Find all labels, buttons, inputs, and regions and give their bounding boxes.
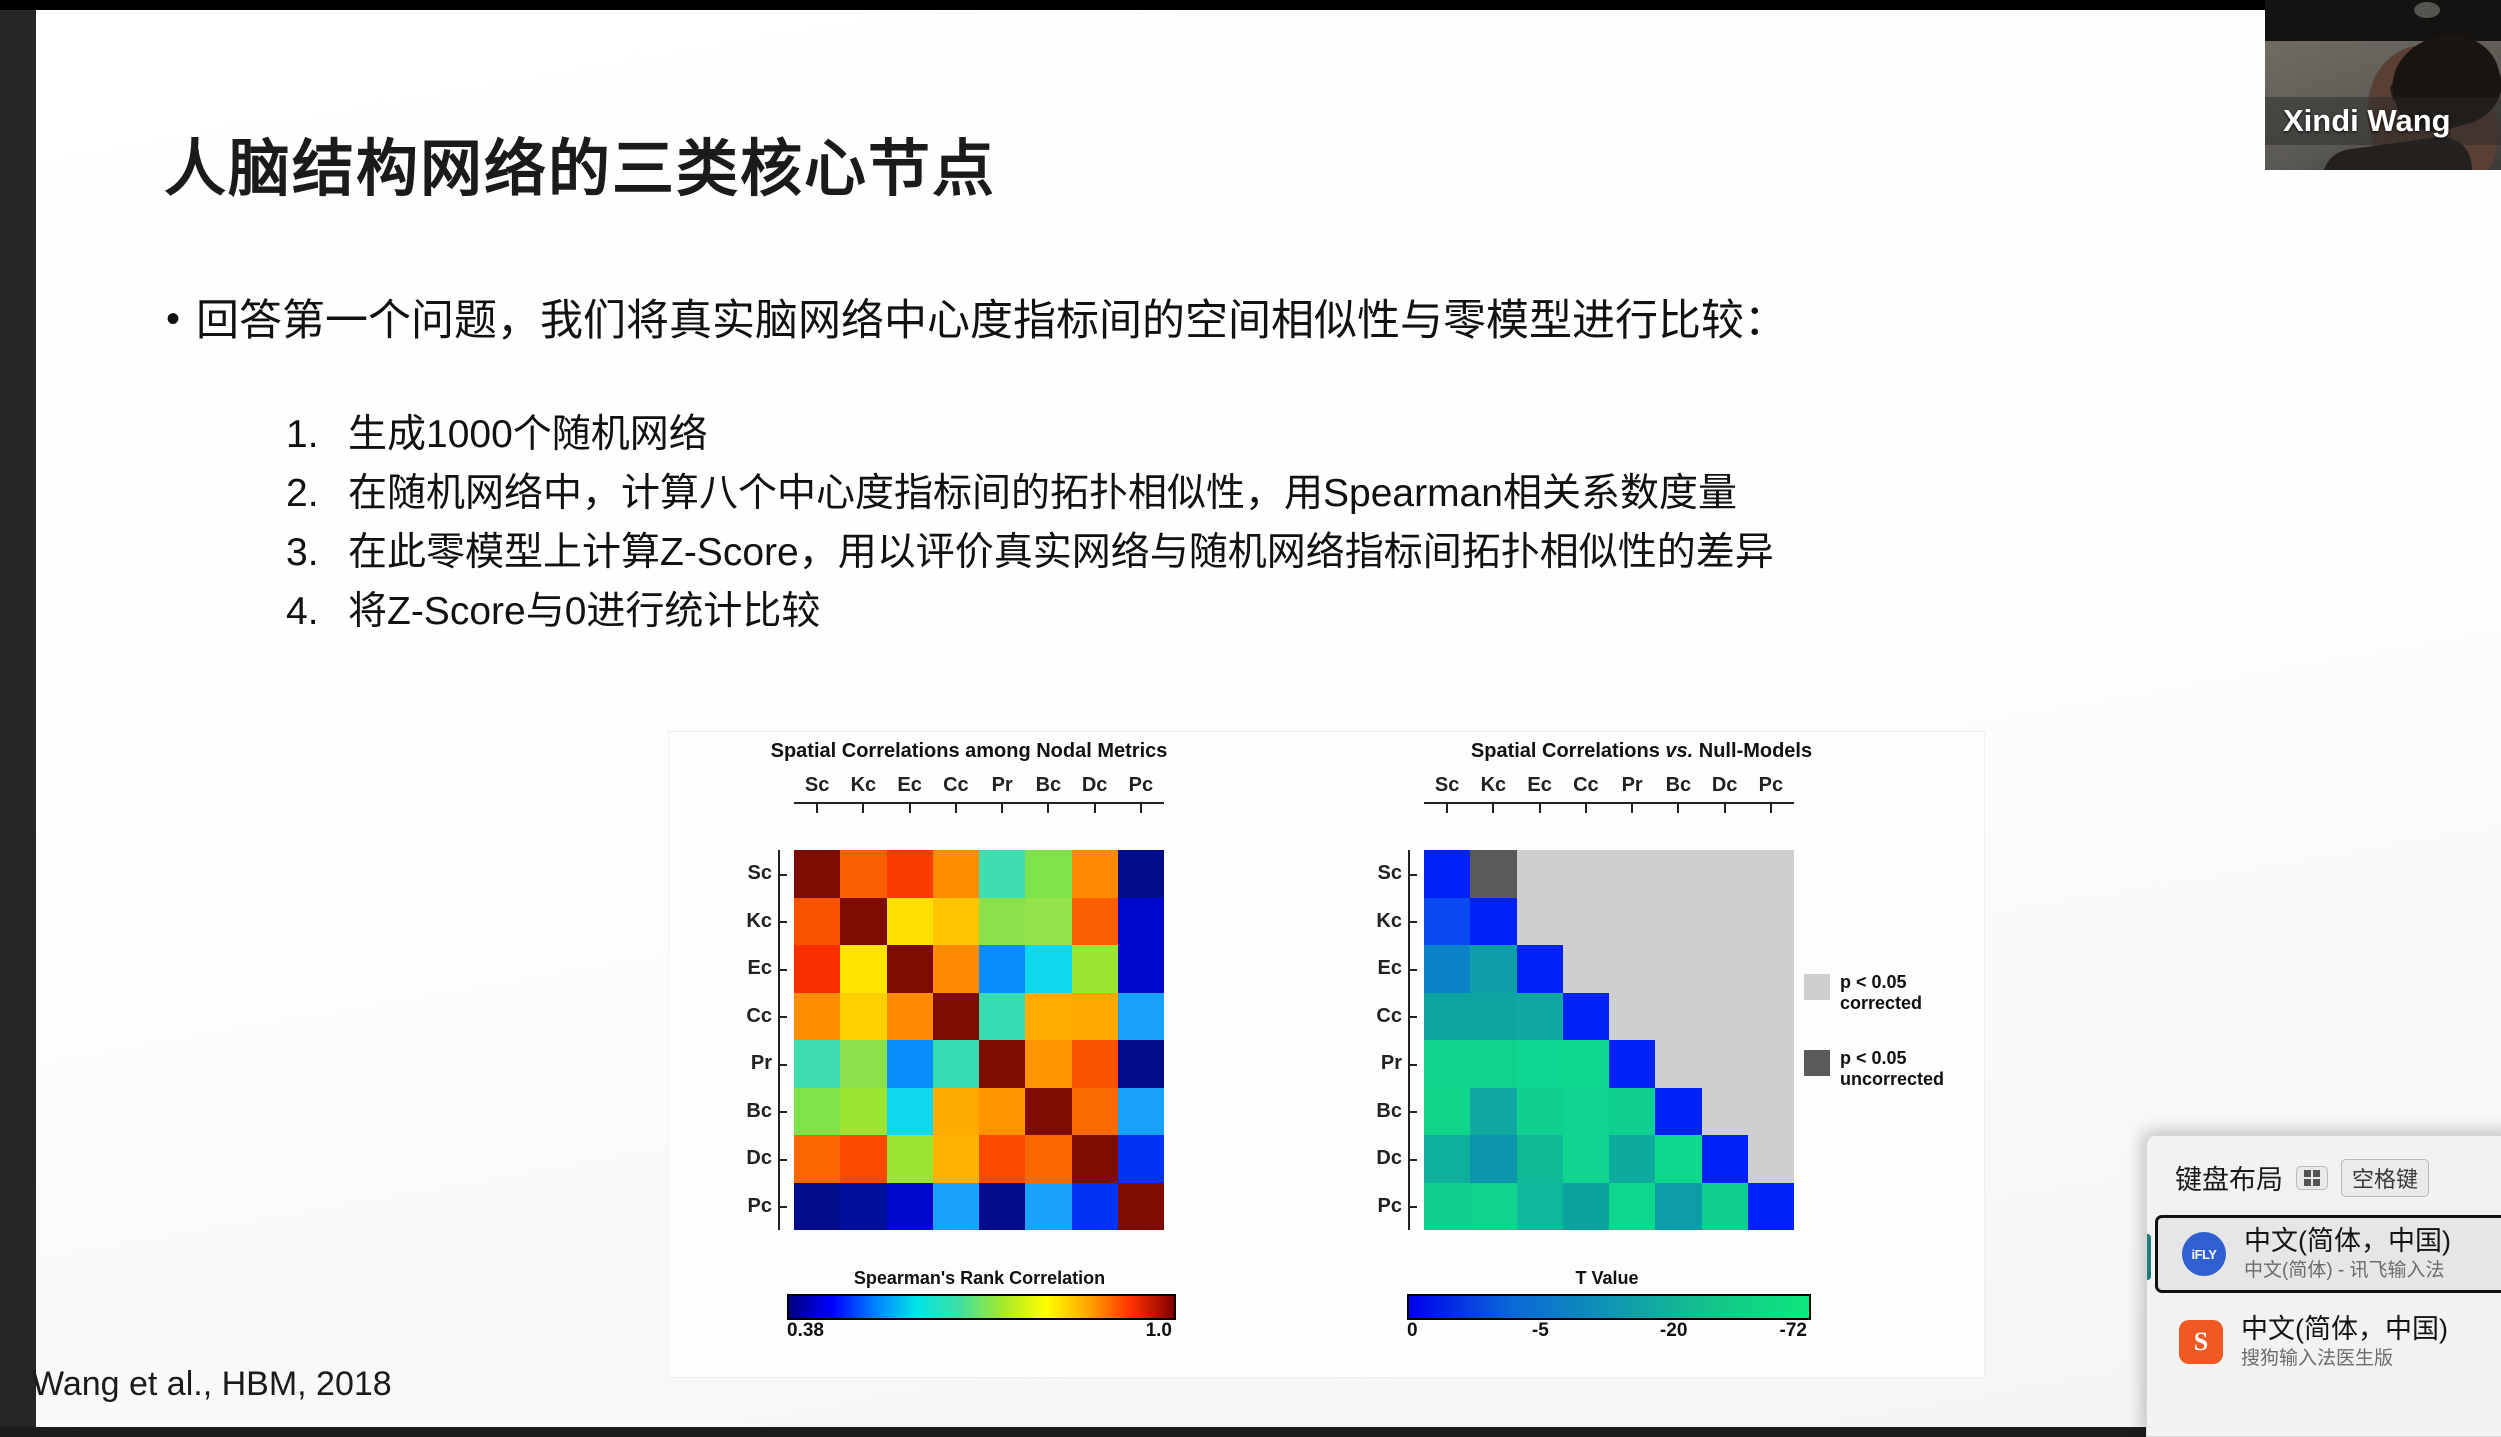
heatmap-right-x-ticks [1424, 804, 1794, 813]
column-header-bc: Bc [1025, 774, 1071, 797]
heatmap-cell-pr-dc [1702, 1040, 1748, 1088]
heatmap-cell-cc-kc [1470, 993, 1516, 1041]
heatmap-cell-kc-dc [1072, 898, 1118, 946]
heatmap-cell-pr-ec [887, 1040, 933, 1088]
windows-key-icon [2296, 1166, 2328, 1190]
participant-name-label: Xindi Wang [2283, 103, 2451, 139]
heatmap-cell-dc-bc [1025, 1135, 1071, 1183]
heatmap-cell-pc-bc [1025, 1183, 1071, 1231]
list-item: 2. 在随机网络中，计算八个中心度指标间的拓扑相似性，用Spearman相关系数… [286, 469, 1774, 519]
row-label-kc: Kc [724, 898, 772, 946]
heatmap-cell-sc-kc [840, 850, 886, 898]
heatmap-cell-ec-sc [794, 945, 840, 993]
heatmap-right-title: Spatial Correlations vs. Null-Models [1299, 740, 1984, 763]
row-label-sc: Sc [724, 850, 772, 898]
heatmap-cell-dc-ec [1517, 1135, 1563, 1183]
list-item: 1. 生成1000个随机网络 [286, 410, 1774, 460]
list-item-text: 生成1000个随机网络 [348, 410, 708, 460]
heatmap-right-colorbar [1407, 1294, 1811, 1320]
row-tick [778, 874, 787, 876]
heatmap-cell-cc-pr [1609, 993, 1655, 1041]
heatmap-cell-pc-bc [1655, 1183, 1701, 1231]
heatmap-right-row-labels: ScKcEcCcPrBcDcPc [1354, 850, 1402, 1230]
colorbar-tick-label: -20 [1660, 1320, 1687, 1342]
heatmap-cell-pr-cc [933, 1040, 979, 1088]
colorbar-min-label: 0.38 [787, 1320, 824, 1342]
row-label-kc: Kc [1354, 898, 1402, 946]
list-item-index: 1. [286, 410, 348, 460]
list-item-index: 2. [286, 469, 348, 519]
column-header-kc: Kc [840, 774, 886, 797]
heatmap-cell-sc-pr [1609, 850, 1655, 898]
heatmap-cell-ec-kc [1470, 945, 1516, 993]
heatmap-cell-sc-pc [1118, 850, 1164, 898]
heatmap-cell-kc-kc [1470, 898, 1516, 946]
heatmap-cell-bc-kc [840, 1088, 886, 1136]
heatmap-cell-pr-kc [840, 1040, 886, 1088]
row-tick [1408, 1016, 1417, 1018]
heatmap-cell-pc-kc [840, 1183, 886, 1231]
list-item: 3. 在此零模型上计算Z-Score，用以评价真实网络与随机网络指标间拓扑相似性… [286, 528, 1774, 578]
list-item: 4. 将Z-Score与0进行统计比较 [286, 587, 1774, 637]
heatmap-cell-bc-ec [1517, 1088, 1563, 1136]
ime-language-switcher-popup[interactable]: 键盘布局 空格键 iFLY 中文(简体，中国) 中文(简体) - 讯飞输入法 S… [2146, 1135, 2501, 1437]
heatmap-cell-sc-ec [887, 850, 933, 898]
bullet-marker-icon: • [166, 295, 196, 343]
heatmap-cell-cc-pr [979, 993, 1025, 1041]
list-item-text: 在随机网络中，计算八个中心度指标间的拓扑相似性，用Spearman相关系数度量 [348, 469, 1737, 519]
heatmap-left-y-axis [778, 850, 780, 1230]
heatmap-cell-kc-sc [1424, 898, 1470, 946]
screen-share-frame: 人脑结构网络的三类核心节点 • 回答第一个问题，我们将真实脑网络中心度指标间的空… [0, 0, 2501, 1427]
main-bullet: • 回答第一个问题，我们将真实脑网络中心度指标间的空间相似性与零模型进行比较： [166, 295, 1787, 347]
heatmap-cell-cc-cc [1563, 993, 1609, 1041]
heatmap-cell-ec-kc [840, 945, 886, 993]
heatmap-cell-pr-cc [1563, 1040, 1609, 1088]
ime-header-label: 键盘布局 [2175, 1158, 2283, 1197]
heatmap-cell-cc-pc [1118, 993, 1164, 1041]
heatmap-cell-bc-dc [1072, 1088, 1118, 1136]
heatmap-cell-pc-pc [1748, 1183, 1794, 1231]
ime-option-sogou[interactable]: S 中文(简体，中国) 搜狗输入法医生版 [2155, 1303, 2501, 1381]
heatmap-cell-kc-ec [1517, 898, 1563, 946]
column-header-pr: Pr [979, 774, 1025, 797]
ime-option-ifly[interactable]: iFLY 中文(简体，中国) 中文(简体) - 讯飞输入法 [2155, 1215, 2501, 1293]
heatmap-cell-pr-bc [1025, 1040, 1071, 1088]
row-label-cc: Cc [724, 993, 772, 1041]
citation-text: Wang et al., HBM, 2018 [32, 1365, 392, 1404]
heatmap-cell-ec-pr [979, 945, 1025, 993]
heatmap-cell-kc-pr [1609, 898, 1655, 946]
legend-line2: corrected [1840, 993, 1922, 1014]
column-header-pr: Pr [1609, 774, 1655, 797]
heatmap-cell-ec-cc [933, 945, 979, 993]
heatmap-left-row-labels: ScKcEcCcPrBcDcPc [724, 850, 772, 1230]
heatmap-right-cells [1424, 850, 1794, 1230]
row-tick [1408, 921, 1417, 923]
heatmap-cell-cc-sc [794, 993, 840, 1041]
heatmap-cell-pc-cc [933, 1183, 979, 1231]
legend-text-corrected: p < 0.05 corrected [1840, 972, 1922, 1014]
ime-option-text: 中文(简体，中国) 中文(简体) - 讯飞输入法 [2244, 1226, 2451, 1282]
heatmap-cell-cc-cc [933, 993, 979, 1041]
heatmap-panel-nodal-metrics: Spatial Correlations among Nodal Metrics… [669, 732, 1269, 1377]
heatmap-cell-kc-dc [1702, 898, 1748, 946]
row-tick [1408, 1111, 1417, 1113]
row-tick [778, 1111, 787, 1113]
heatmap-cell-bc-pc [1748, 1088, 1794, 1136]
heatmap-cell-ec-sc [1424, 945, 1470, 993]
heatmap-cell-dc-dc [1072, 1135, 1118, 1183]
ime-option-title: 中文(简体，中国) [2241, 1314, 2448, 1345]
heatmap-cell-dc-pr [979, 1135, 1025, 1183]
page-title: 人脑结构网络的三类核心节点 [164, 118, 996, 208]
row-label-pc: Pc [724, 1183, 772, 1231]
heatmap-cell-ec-dc [1702, 945, 1748, 993]
heatmap-cell-dc-pc [1118, 1135, 1164, 1183]
column-header-cc: Cc [1563, 774, 1609, 797]
heatmap-cell-dc-pc [1748, 1135, 1794, 1183]
heatmap-cell-dc-sc [794, 1135, 840, 1183]
webcam-background-dark [2265, 0, 2501, 41]
heatmap-right-legend: p < 0.05 corrected p < 0.05 uncorrected [1804, 972, 1944, 1124]
heatmap-cell-pc-dc [1702, 1183, 1748, 1231]
heatmap-cell-pr-sc [1424, 1040, 1470, 1088]
heatmap-cell-cc-sc [1424, 993, 1470, 1041]
heatmap-cell-bc-dc [1702, 1088, 1748, 1136]
heatmap-cell-pc-ec [1517, 1183, 1563, 1231]
heatmap-cell-dc-kc [1470, 1135, 1516, 1183]
column-header-ec: Ec [1517, 774, 1563, 797]
heatmap-cell-pc-ec [887, 1183, 933, 1231]
heatmap-cell-sc-pc [1748, 850, 1794, 898]
heatmap-left-colorbar-ticks: 0.38 1.0 [787, 1320, 1172, 1344]
row-label-dc: Dc [1354, 1135, 1402, 1183]
heatmap-cell-ec-cc [1563, 945, 1609, 993]
heatmap-cell-pc-pc [1118, 1183, 1164, 1231]
heatmap-cell-pr-pc [1118, 1040, 1164, 1088]
heatmap-cell-cc-bc [1025, 993, 1071, 1041]
heatmap-cell-bc-cc [933, 1088, 979, 1136]
heatmap-cell-kc-bc [1655, 898, 1701, 946]
heatmap-right-colorbar-ticks: 0-5-20-72 [1407, 1320, 1807, 1344]
row-tick [1408, 874, 1417, 876]
numbered-step-list: 1. 生成1000个随机网络 2. 在随机网络中，计算八个中心度指标间的拓扑相似… [286, 410, 1774, 646]
heatmap-cell-cc-kc [840, 993, 886, 1041]
row-label-dc: Dc [724, 1135, 772, 1183]
legend-line2: uncorrected [1840, 1069, 1944, 1090]
heatmap-cell-sc-cc [1563, 850, 1609, 898]
webcam-ceiling-light [2414, 2, 2440, 18]
row-tick [778, 1206, 787, 1208]
left-dark-border [0, 0, 36, 1427]
heatmap-cell-kc-ec [887, 898, 933, 946]
ime-selection-indicator [2146, 1234, 2151, 1280]
heatmap-cell-sc-bc [1655, 850, 1701, 898]
heatmap-cell-dc-sc [1424, 1135, 1470, 1183]
heatmap-cell-pr-pr [1609, 1040, 1655, 1088]
ime-header: 键盘布局 空格键 [2147, 1136, 2501, 1197]
heatmap-cell-sc-cc [933, 850, 979, 898]
heatmap-cell-pr-kc [1470, 1040, 1516, 1088]
heatmap-cell-bc-sc [1424, 1088, 1470, 1136]
row-label-pr: Pr [1354, 1040, 1402, 1088]
row-tick [1408, 1206, 1417, 1208]
row-tick [778, 921, 787, 923]
ime-option-subtitle: 中文(简体) - 讯飞输入法 [2244, 1260, 2451, 1282]
heatmap-cell-sc-sc [794, 850, 840, 898]
heatmap-left-colorbar-label: Spearman's Rank Correlation [787, 1268, 1172, 1289]
heatmap-cell-ec-dc [1072, 945, 1118, 993]
column-header-bc: Bc [1655, 774, 1701, 797]
top-black-bar [0, 0, 2501, 10]
heatmap-cell-pc-pr [1609, 1183, 1655, 1231]
heatmap-cell-sc-ec [1517, 850, 1563, 898]
heatmap-cell-sc-dc [1702, 850, 1748, 898]
row-tick [778, 1064, 787, 1066]
heatmap-right-title-part1: Spatial Correlations [1471, 740, 1666, 762]
heatmap-cell-ec-pc [1748, 945, 1794, 993]
heatmap-cell-bc-pr [1609, 1088, 1655, 1136]
legend-swatch-corrected [1804, 974, 1830, 1000]
column-header-ec: Ec [887, 774, 933, 797]
column-header-sc: Sc [794, 774, 840, 797]
heatmap-cell-ec-pr [1609, 945, 1655, 993]
heatmap-panel-null-models: Spatial Correlations vs. Null-Models ScK… [1299, 732, 1984, 1377]
colorbar-tick-label: -5 [1532, 1320, 1549, 1342]
row-tick [778, 1159, 787, 1161]
column-header-dc: Dc [1702, 774, 1748, 797]
heatmap-right-colorbar-label: T Value [1407, 1268, 1807, 1289]
list-item-text: 将Z-Score与0进行统计比较 [348, 587, 820, 637]
legend-line1: p < 0.05 [1840, 1048, 1944, 1069]
row-label-bc: Bc [724, 1088, 772, 1136]
space-key-badge: 空格键 [2341, 1159, 2429, 1197]
row-tick [1408, 969, 1417, 971]
column-header-pc: Pc [1748, 774, 1794, 797]
row-label-cc: Cc [1354, 993, 1402, 1041]
row-label-ec: Ec [724, 945, 772, 993]
heatmap-cell-pr-bc [1655, 1040, 1701, 1088]
row-tick [778, 969, 787, 971]
heatmap-cell-pr-pc [1748, 1040, 1794, 1088]
heatmap-cell-ec-pc [1118, 945, 1164, 993]
heatmap-cell-pc-sc [1424, 1183, 1470, 1231]
heatmap-cell-sc-kc [1470, 850, 1516, 898]
column-header-cc: Cc [933, 774, 979, 797]
legend-swatch-uncorrected [1804, 1050, 1830, 1076]
heatmap-left-colorbar [787, 1294, 1176, 1320]
heatmap-right-column-headers: ScKcEcCcPrBcDcPc [1424, 774, 1794, 797]
sogou-icon: S [2179, 1320, 2223, 1364]
column-header-dc: Dc [1072, 774, 1118, 797]
heatmap-right-title-part2: Null-Models [1693, 740, 1812, 762]
legend-item-uncorrected: p < 0.05 uncorrected [1804, 1048, 1944, 1090]
heatmap-cell-pr-dc [1072, 1040, 1118, 1088]
heatmap-cell-cc-pc [1748, 993, 1794, 1041]
row-tick [778, 1016, 787, 1018]
heatmap-cell-pc-kc [1470, 1183, 1516, 1231]
row-tick [1408, 1159, 1417, 1161]
webcam-name-bar: Xindi Wang [2265, 97, 2501, 145]
heatmap-left-cells [794, 850, 1164, 1230]
main-bullet-text: 回答第一个问题，我们将真实脑网络中心度指标间的空间相似性与零模型进行比较： [196, 295, 1787, 347]
colorbar-tick-label: 0 [1407, 1320, 1418, 1342]
presentation-slide: 人脑结构网络的三类核心节点 • 回答第一个问题，我们将真实脑网络中心度指标间的空… [36, 10, 2501, 1427]
row-label-pr: Pr [724, 1040, 772, 1088]
heatmap-cell-pc-dc [1072, 1183, 1118, 1231]
heatmap-cell-kc-sc [794, 898, 840, 946]
heatmap-left-x-ticks [794, 804, 1164, 813]
heatmap-cell-kc-pr [979, 898, 1025, 946]
heatmap-cell-bc-pc [1118, 1088, 1164, 1136]
row-label-bc: Bc [1354, 1088, 1402, 1136]
heatmap-cell-dc-dc [1702, 1135, 1748, 1183]
heatmap-cell-dc-ec [887, 1135, 933, 1183]
heatmap-left-title: Spatial Correlations among Nodal Metrics [669, 740, 1269, 763]
heatmap-cell-dc-cc [1563, 1135, 1609, 1183]
ime-option-subtitle: 搜狗输入法医生版 [2241, 1348, 2448, 1370]
colorbar-tick-label: -72 [1780, 1320, 1807, 1342]
row-label-pc: Pc [1354, 1183, 1402, 1231]
heatmap-cell-bc-bc [1655, 1088, 1701, 1136]
heatmap-right-y-axis [1408, 850, 1410, 1230]
row-label-ec: Ec [1354, 945, 1402, 993]
figure-two-heatmaps: Spatial Correlations among Nodal Metrics… [669, 732, 1984, 1377]
heatmap-cell-kc-cc [1563, 898, 1609, 946]
column-header-kc: Kc [1470, 774, 1516, 797]
heatmap-cell-dc-bc [1655, 1135, 1701, 1183]
heatmap-cell-ec-ec [1517, 945, 1563, 993]
heatmap-cell-kc-kc [840, 898, 886, 946]
heatmap-cell-ec-bc [1655, 945, 1701, 993]
heatmap-cell-cc-dc [1702, 993, 1748, 1041]
heatmap-cell-sc-dc [1072, 850, 1118, 898]
legend-text-uncorrected: p < 0.05 uncorrected [1840, 1048, 1944, 1090]
heatmap-cell-cc-ec [887, 993, 933, 1041]
heatmap-cell-ec-bc [1025, 945, 1071, 993]
list-item-text: 在此零模型上计算Z-Score，用以评价真实网络与随机网络指标间拓扑相似性的差异 [348, 528, 1774, 578]
heatmap-cell-cc-dc [1072, 993, 1118, 1041]
legend-item-corrected: p < 0.05 corrected [1804, 972, 1944, 1014]
list-item-index: 4. [286, 587, 348, 637]
heatmap-cell-ec-ec [887, 945, 933, 993]
column-header-pc: Pc [1118, 774, 1164, 797]
heatmap-cell-kc-bc [1025, 898, 1071, 946]
heatmap-cell-bc-kc [1470, 1088, 1516, 1136]
heatmap-cell-kc-cc [933, 898, 979, 946]
list-item-index: 3. [286, 528, 348, 578]
heatmap-cell-bc-ec [887, 1088, 933, 1136]
heatmap-cell-cc-bc [1655, 993, 1701, 1041]
colorbar-max-label: 1.0 [1146, 1320, 1172, 1342]
heatmap-cell-pr-ec [1517, 1040, 1563, 1088]
ime-option-title: 中文(简体，中国) [2244, 1226, 2451, 1257]
heatmap-cell-pc-pr [979, 1183, 1025, 1231]
heatmap-cell-bc-pr [979, 1088, 1025, 1136]
heatmap-cell-bc-bc [1025, 1088, 1071, 1136]
heatmap-cell-sc-pr [979, 850, 1025, 898]
heatmap-cell-kc-pc [1748, 898, 1794, 946]
heatmap-cell-pc-cc [1563, 1183, 1609, 1231]
heatmap-cell-sc-sc [1424, 850, 1470, 898]
heatmap-cell-kc-pc [1118, 898, 1164, 946]
heatmap-left-column-headers: ScKcEcCcPrBcDcPc [794, 774, 1164, 797]
heatmap-cell-pr-pr [979, 1040, 1025, 1088]
webcam-pip[interactable]: Xindi Wang [2265, 0, 2501, 170]
ifly-icon: iFLY [2182, 1232, 2226, 1276]
heatmap-cell-bc-cc [1563, 1088, 1609, 1136]
row-tick [1408, 1064, 1417, 1066]
heatmap-cell-sc-bc [1025, 850, 1071, 898]
heatmap-cell-dc-kc [840, 1135, 886, 1183]
ime-option-text: 中文(简体，中国) 搜狗输入法医生版 [2241, 1314, 2448, 1370]
heatmap-cell-bc-sc [794, 1088, 840, 1136]
heatmap-cell-dc-pr [1609, 1135, 1655, 1183]
row-label-sc: Sc [1354, 850, 1402, 898]
heatmap-cell-pc-sc [794, 1183, 840, 1231]
heatmap-cell-pr-sc [794, 1040, 840, 1088]
column-header-sc: Sc [1424, 774, 1470, 797]
legend-line1: p < 0.05 [1840, 972, 1922, 993]
heatmap-cell-dc-cc [933, 1135, 979, 1183]
heatmap-cell-cc-ec [1517, 993, 1563, 1041]
heatmap-right-title-italic: vs. [1665, 740, 1693, 762]
